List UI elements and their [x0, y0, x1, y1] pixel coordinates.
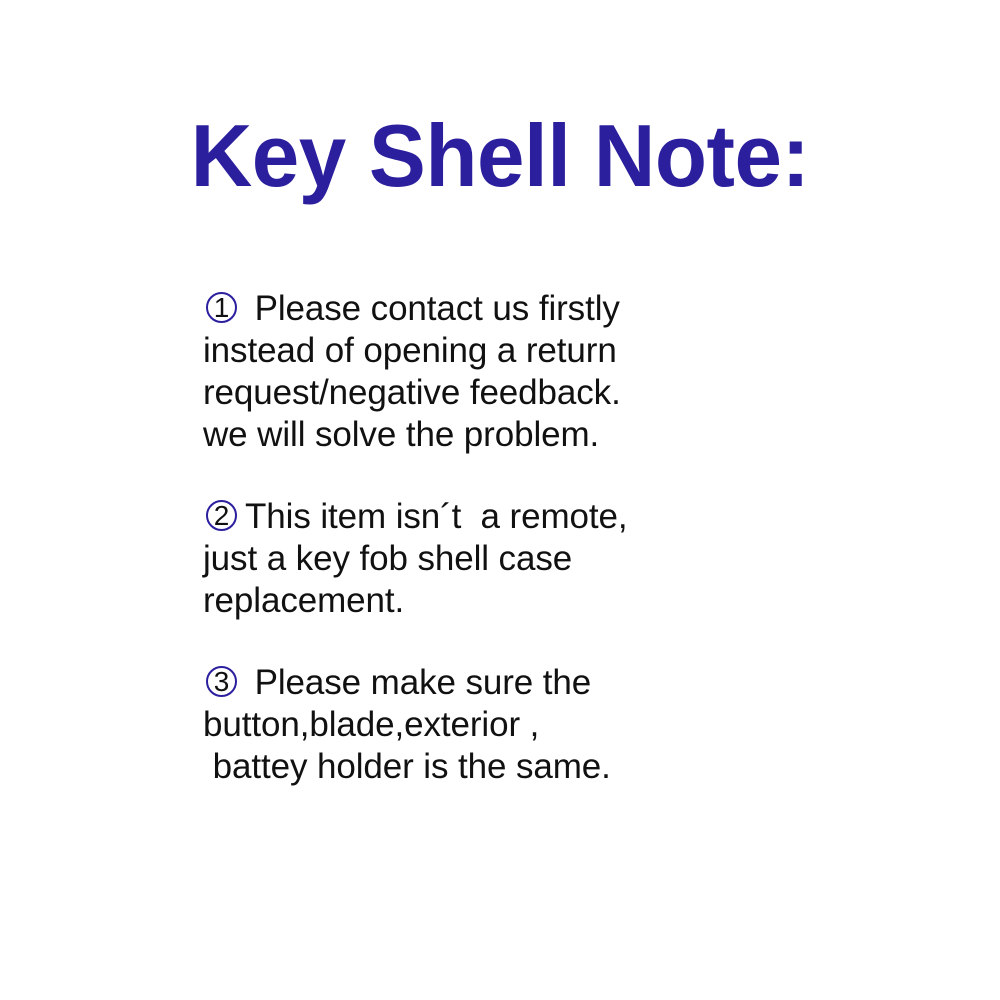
note-list: 1 Please contact us firstly instead of o…: [203, 288, 823, 788]
note-line: 2This item isn´t a remote,: [203, 496, 823, 538]
page-title: Key Shell Note:: [15, 104, 985, 208]
note-line-text: Please contact us firstly: [245, 289, 620, 328]
note-line-text: This item isn´t a remote,: [245, 497, 628, 536]
list-item: 2This item isn´t a remote, just a key fo…: [203, 496, 823, 622]
note-line: 3 Please make sure the: [203, 662, 823, 704]
marker-number: 2: [203, 496, 240, 536]
note-line-text: Please make sure the: [245, 663, 591, 702]
note-line: button,blade,exterior ,: [203, 704, 823, 746]
note-line: instead of opening a return: [203, 330, 823, 372]
note-line: 1 Please contact us firstly: [203, 288, 823, 330]
note-line: we will solve the problem.: [203, 414, 823, 456]
list-item: 3 Please make sure the button,blade,exte…: [203, 662, 823, 788]
note-line: request/negative feedback.: [203, 372, 823, 414]
circled-number-three-icon: 3: [203, 662, 243, 702]
note-line: just a key fob shell case: [203, 538, 823, 580]
circled-number-two-icon: 2: [203, 496, 243, 536]
marker-number: 1: [203, 288, 240, 328]
marker-number: 3: [203, 662, 240, 702]
list-item: 1 Please contact us firstly instead of o…: [203, 288, 823, 456]
key-shell-note-card: Key Shell Note: 1 Please contact us firs…: [0, 0, 1000, 1000]
circled-number-one-icon: 1: [203, 288, 243, 328]
note-line: battey holder is the same.: [203, 746, 823, 788]
note-line: replacement.: [203, 580, 823, 622]
